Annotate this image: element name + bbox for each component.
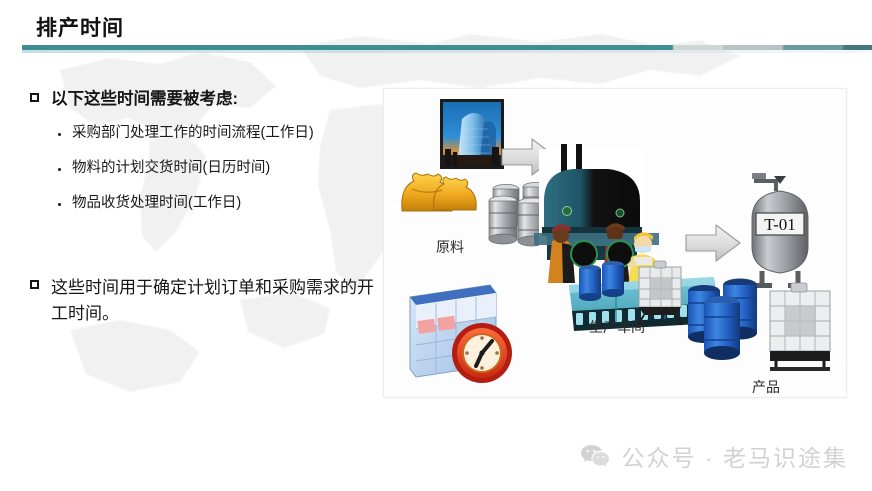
money-bags-icon — [392, 173, 476, 215]
diagram-label-product: 产品 — [752, 377, 780, 397]
page-title: 排产时间 — [36, 12, 124, 42]
calendar-clock-icon — [410, 285, 512, 383]
diagram-label-workshop: 生产车间 — [589, 317, 645, 337]
sub-bullet-3: 物品收货处理时间(工作日) — [58, 194, 390, 213]
bullet-heading-1-text: 以下这些时间需要被考虑: — [51, 88, 238, 110]
wechat-icon — [580, 443, 610, 469]
factory-building-photo-icon — [440, 99, 504, 169]
dot-bullet-icon — [58, 168, 61, 171]
sub-bullet-list: 采购部门处理工作的时间流程(工作日) 物料的计划交货时间(日历时间) 物品收货处… — [58, 124, 390, 213]
title-underline-glow — [22, 50, 872, 53]
bullet-heading-1: 以下这些时间需要被考虑: — [30, 88, 390, 110]
square-bullet-icon — [30, 280, 39, 289]
diagram-label-raw-material: 原料 — [436, 237, 464, 257]
channel-watermark: 公众号 · 老马识途集 — [580, 439, 848, 473]
tank-tag-text: T-01 — [764, 215, 796, 234]
ibc-tote-icon — [770, 283, 830, 371]
dot-bullet-icon — [58, 133, 61, 136]
bullet-block-secondary: 这些时间用于确定计划订单和采购需求的开工时间。 — [30, 275, 390, 328]
blue-drums-icon — [688, 279, 757, 361]
bullet-block-primary: 以下这些时间需要被考虑: 采购部门处理工作的时间流程(工作日) 物料的计划交货时… — [30, 88, 390, 229]
sub-bullet-2: 物料的计划交货时间(日历时间) — [58, 159, 390, 178]
dot-bullet-icon — [58, 203, 61, 206]
arrow-right-icon — [686, 225, 740, 261]
bullet-heading-2: 这些时间用于确定计划订单和采购需求的开工时间。 — [30, 275, 390, 328]
square-bullet-icon — [30, 93, 39, 102]
sub-bullet-1-text: 采购部门处理工作的时间流程(工作日) — [72, 124, 314, 143]
sub-bullet-2-text: 物料的计划交货时间(日历时间) — [72, 159, 270, 178]
sub-bullet-3-text: 物品收货处理时间(工作日) — [72, 194, 241, 213]
bullet-heading-2-text: 这些时间用于确定计划订单和采购需求的开工时间。 — [51, 275, 390, 328]
slide-canvas: 排产时间 以下这些时间需要被考虑: 采购部门处理工作的时间流程(工作日) 物料的… — [0, 0, 872, 491]
watermark-text: 公众号 · 老马识途集 — [622, 439, 848, 473]
process-flow-diagram: T-01 原料 生产车间 产品 — [383, 88, 847, 398]
sub-bullet-1: 采购部门处理工作的时间流程(工作日) — [58, 124, 390, 143]
